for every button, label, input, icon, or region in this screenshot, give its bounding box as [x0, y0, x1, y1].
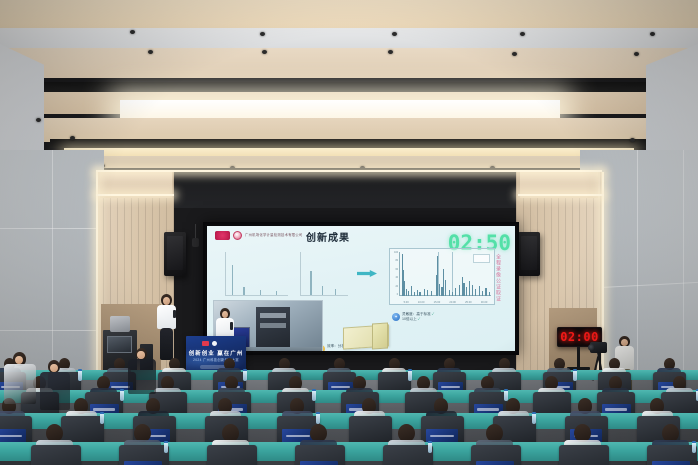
chart-peak	[411, 286, 412, 296]
chart-y-axis	[399, 252, 400, 296]
audience-chair	[31, 445, 81, 465]
presenter-left-trousers	[160, 328, 173, 360]
chart-peak	[424, 289, 425, 296]
attendee-torso	[128, 359, 156, 394]
chart-marker-line	[452, 252, 453, 296]
chart-peak	[414, 292, 415, 296]
company-logo-primary-icon	[215, 231, 230, 240]
ceiling-downlight-icon	[260, 32, 265, 36]
ceiling-downlight-icon	[520, 32, 525, 36]
ceiling-downlight-icon	[130, 30, 135, 34]
company-logo-secondary-icon	[233, 231, 242, 240]
chart-peak	[466, 287, 467, 296]
audience-chair	[559, 445, 609, 465]
audience-chair	[383, 445, 433, 465]
presenter-left-face	[163, 297, 170, 305]
ceiling-white-band	[0, 28, 698, 50]
chart-peak	[489, 292, 490, 296]
chart-peak	[449, 290, 450, 296]
slide-bullet-2: ✦ 灵敏度：高于标准 ✓ 10倍以上 ✓	[392, 312, 434, 323]
cove-light-right-horizontal	[518, 194, 604, 196]
cove-light-left-horizontal	[96, 194, 174, 196]
av-cart-fan-icon	[110, 316, 130, 332]
ceiling-downlight-icon	[148, 50, 153, 54]
chart-peak	[463, 283, 464, 296]
loudspeaker-left	[164, 232, 186, 276]
seat-back-sign	[300, 461, 338, 465]
ceiling-light-panel	[120, 100, 560, 119]
wall-seam-right-1	[637, 150, 638, 400]
led-clock-stand	[577, 347, 580, 369]
podium-logo-icon	[202, 341, 209, 346]
videographer-face	[621, 339, 628, 346]
process-arrow-icon	[357, 270, 377, 277]
ceiling-downlight-icon	[634, 52, 639, 56]
company-name-text: 广州机场化学计量检测技术有限公司	[245, 232, 302, 237]
chart-peak	[485, 288, 486, 296]
ceiling-downlight-icon	[262, 50, 267, 54]
chart-peak	[445, 280, 446, 296]
chart-peak	[419, 292, 420, 296]
projection-screen[interactable]: 广州机场化学计量检测技术有限公司 创新成果 02:50 全程录像公证取证	[203, 222, 519, 355]
ceiling-downlight-icon	[36, 118, 41, 122]
seat-back-sign	[476, 461, 514, 465]
chromatogram-chart: 100806040200 5.0010.0015.0020.0025.0030.…	[389, 248, 495, 305]
presenter-right-microphone-icon	[230, 322, 233, 330]
chart-peak	[455, 288, 456, 296]
ceiling-downlight-icon	[650, 32, 655, 36]
water-bottle	[504, 389, 508, 401]
water-bottle	[243, 369, 247, 381]
podium-headline: 创新创业 赢在广州	[186, 349, 246, 357]
water-bottle	[532, 412, 536, 424]
podium-subline: 2024 广州科技创新创业大赛	[186, 357, 246, 362]
water-bottle	[164, 441, 168, 453]
loudspeaker-right	[518, 232, 540, 276]
water-bottle	[312, 389, 316, 401]
cove-light-top-edge	[96, 170, 602, 172]
chart-peak	[459, 285, 460, 296]
bullet-2-text: 灵敏度：高于标准 ✓ 10倍以上 ✓	[402, 312, 434, 323]
camera-lens-icon	[588, 344, 595, 351]
cove-light-left-vertical	[96, 172, 98, 380]
slide-title: 创新成果	[306, 229, 350, 244]
chart-y-tick-labels: 100806040200	[391, 252, 398, 296]
slide-document-graphic-2	[372, 322, 388, 349]
chart-peak	[479, 286, 480, 296]
audience-chair	[207, 445, 257, 465]
wall-seam-right-2	[683, 150, 684, 400]
attendee-face	[50, 364, 58, 373]
chart-peak	[482, 291, 483, 296]
attendee-torso	[4, 364, 36, 404]
ceiling-downlight-icon	[392, 32, 397, 36]
water-bottle	[408, 369, 412, 381]
ceiling-wood-panel-a	[2, 48, 696, 78]
attendee-face	[137, 351, 144, 359]
attendee-torso	[40, 372, 70, 410]
presenter-left-microphone-icon	[173, 310, 176, 318]
ceiling-dark-reveal-2	[50, 139, 646, 148]
chart-peak	[417, 290, 418, 296]
water-bottle	[573, 369, 577, 381]
chart-legend	[473, 254, 490, 263]
water-bottle	[120, 389, 124, 401]
conference-room-photo: 广州机场化学计量检测技术有限公司 创新成果 02:50 全程录像公证取证	[0, 0, 698, 465]
ceiling-downlight-icon	[630, 138, 635, 142]
water-bottle	[428, 441, 432, 453]
seat-back-sign	[652, 461, 690, 465]
presentation-slide: 广州机场化学计量检测技术有限公司 创新成果 02:50 全程录像公证取证	[207, 226, 515, 351]
lab-instrument-graphic	[256, 307, 290, 351]
seat-back-sign	[124, 461, 162, 465]
av-cart-monitor	[107, 336, 132, 353]
chart-peak	[475, 289, 476, 296]
chart-peak	[406, 289, 407, 296]
ceiling-downlight-icon	[388, 50, 393, 54]
chart-peak	[452, 292, 453, 296]
wall-seam-left	[52, 150, 53, 385]
chart-peak	[408, 291, 409, 296]
chart-peak	[431, 291, 432, 296]
podium-logo-secondary-icon	[212, 341, 217, 346]
ceiling-downlight-icon	[70, 136, 75, 140]
presenter-right-face	[222, 311, 228, 318]
water-bottle	[78, 369, 82, 381]
chart-peak	[472, 285, 473, 296]
chart-peak	[439, 284, 440, 296]
water-bottle	[100, 412, 104, 424]
bullet-icon-blue: ✦	[392, 313, 400, 321]
chart-peak	[469, 281, 470, 296]
chart-peak	[427, 290, 428, 296]
chart-x-tick-labels: 5.0010.0015.0020.0025.0030.00	[399, 301, 492, 304]
water-bottle	[316, 412, 320, 424]
mini-chart-left	[225, 252, 288, 296]
ceiling-downlight-icon	[512, 52, 517, 56]
chart-peak	[443, 269, 444, 296]
mini-chart-right	[300, 252, 348, 296]
hanging-microphone-icon	[192, 238, 199, 247]
audience-chair	[349, 416, 392, 445]
water-bottle	[692, 441, 696, 453]
slide-vertical-note: 全程录像公证取证	[495, 254, 501, 302]
